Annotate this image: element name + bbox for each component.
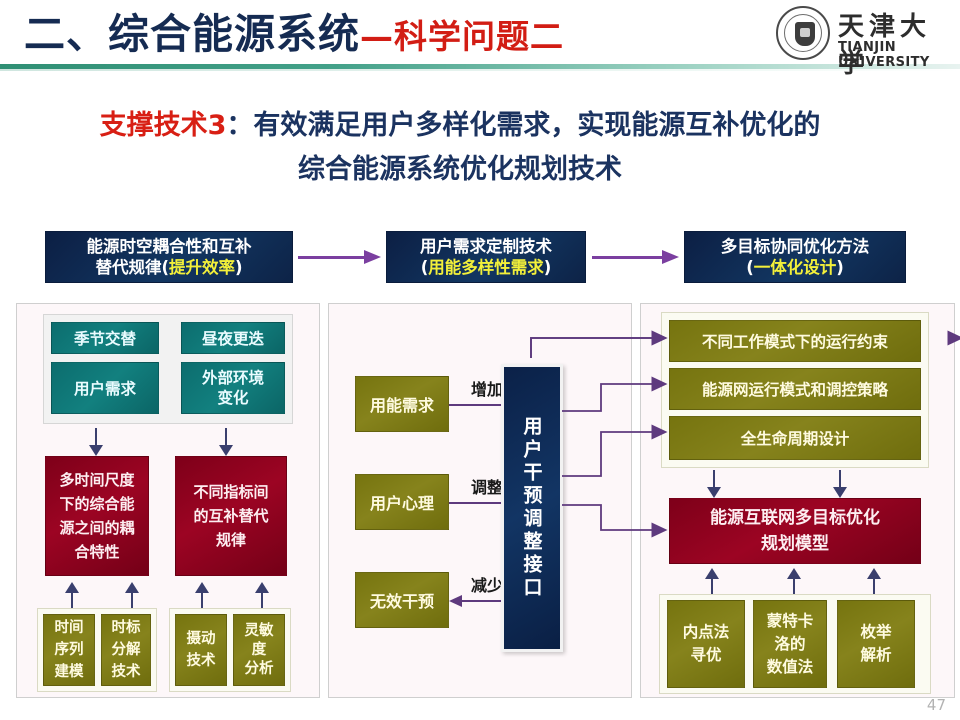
arrow-up-left-4 <box>255 582 269 610</box>
chain-arrow-2 <box>592 250 680 264</box>
node-season-alternation: 季节交替 <box>51 322 159 354</box>
university-logo: 天津大学 TIANJIN UNIVERSITY <box>776 4 948 62</box>
page-title-sub: —科学问题二 <box>360 17 564 56</box>
node-multiscale-coupling: 多时间尺度 下的综合能 源之间的耦 合特性 <box>45 456 149 576</box>
node-day-night: 昼夜更迭 <box>181 322 285 354</box>
subtitle-accent: 支撑技术3 <box>100 110 227 141</box>
chain3-sub-post: ) <box>836 258 844 277</box>
node-user-demand: 用户需求 <box>51 362 159 414</box>
chain1-sub-highlight: 提升效率 <box>169 258 235 277</box>
arrow-down-right-1 <box>707 470 721 498</box>
page-title: 二、综合能源系统—科学问题二 <box>24 8 564 63</box>
arrow-up-left-2 <box>125 582 139 610</box>
header-divider-secondary <box>0 69 960 71</box>
seal-icon <box>776 6 830 60</box>
slide-subtitle: 支撑技术3：有效满足用户多样化需求，实现能源互补优化的 综合能源系统优化规划技术 <box>0 104 920 192</box>
node-energy-demand: 用能需求 <box>355 376 449 432</box>
node-external-environment: 外部环境 变化 <box>181 362 285 414</box>
chain1-main: 能源时空耦合性和互补 <box>87 237 252 256</box>
chain3-sub-pre: ( <box>746 258 754 277</box>
slide-canvas: 二、综合能源系统—科学问题二 天津大学 TIANJIN UNIVERSITY 支… <box>0 0 960 720</box>
arrow-down-left-2 <box>219 428 233 456</box>
chain1-sub-pre: 替代规律( <box>95 258 169 277</box>
arrow-down-right-2 <box>833 470 847 498</box>
chain-box-energy-coupling: 能源时空耦合性和互补 替代规律(提升效率) <box>45 231 293 283</box>
node-energy-internet-model: 能源互联网多目标优化 规划模型 <box>669 498 921 564</box>
arrow-up-right-1 <box>705 568 719 596</box>
node-monte-carlo: 蒙特卡 洛的 数值法 <box>753 600 827 688</box>
shield-icon <box>795 22 815 46</box>
subtitle-line1: ：有效满足用户多样化需求，实现能源互补优化的 <box>226 110 820 141</box>
node-operating-constraints: 不同工作模式下的运行约束 <box>669 320 921 362</box>
node-user-intervention-interface: 用户干预调整接口 <box>501 364 563 652</box>
node-lifecycle-design: 全生命周期设计 <box>669 416 921 460</box>
node-enumeration-analysis: 枚举 解析 <box>837 600 915 688</box>
node-timescale-decomposition: 时标 分解 技术 <box>101 614 151 686</box>
flow-label-adjust: 调整 <box>471 474 503 498</box>
arrow-up-left-3 <box>195 582 209 610</box>
arrow-up-left-1 <box>65 582 79 610</box>
hub-label: 用户干预调整接口 <box>519 416 546 600</box>
chain3-main: 多目标协同优化方法 <box>721 237 870 256</box>
panel-middle: 用能需求 用户心理 无效干预 增加 调整 减少 用户干预调整接口 <box>328 303 632 698</box>
page-number: 47 <box>927 696 946 714</box>
chain2-main: 用户需求定制技术 <box>420 237 552 256</box>
logo-label-en: TIANJIN UNIVERSITY <box>838 40 948 70</box>
node-sensitivity-analysis: 灵敏 度 分析 <box>233 614 285 686</box>
arrow-up-right-2 <box>787 568 801 596</box>
node-grid-operation-strategy: 能源网运行模式和调控策略 <box>669 368 921 410</box>
chain-arrow-1 <box>298 250 382 264</box>
page-title-main: 二、综合能源系统 <box>24 10 360 58</box>
flow-label-increase: 增加 <box>471 376 503 400</box>
subtitle-line2: 综合能源系统优化规划技术 <box>0 148 920 192</box>
node-ineffective-intervention: 无效干预 <box>355 572 449 628</box>
node-interior-point-method: 内点法 寻优 <box>667 600 745 688</box>
chain2-sub-highlight: 用能多样性需求 <box>428 258 544 277</box>
chain-box-multiobjective: 多目标协同优化方法 (一体化设计) <box>684 231 906 283</box>
chain2-sub-post: ) <box>544 258 552 277</box>
node-perturbation-technique: 摄动 技术 <box>175 614 227 686</box>
node-user-psychology: 用户心理 <box>355 474 449 530</box>
arrow-down-left-1 <box>89 428 103 456</box>
panel-left: 季节交替 昼夜更迭 用户需求 外部环境 变化 多时间尺度 下的综合能 源之间的耦… <box>16 303 320 698</box>
chain-box-demand-customization: 用户需求定制技术 (用能多样性需求) <box>386 231 586 283</box>
chain3-sub-highlight: 一体化设计 <box>754 258 837 277</box>
chain1-sub-post: ) <box>235 258 243 277</box>
flow-label-decrease: 减少 <box>471 572 503 596</box>
panel-right: 不同工作模式下的运行约束 能源网运行模式和调控策略 全生命周期设计 能源互联网多… <box>640 303 955 698</box>
node-complementary-substitution: 不同指标间 的互补替代 规律 <box>175 456 287 576</box>
node-time-series-modeling: 时间 序列 建模 <box>43 614 95 686</box>
arrow-up-right-3 <box>867 568 881 596</box>
